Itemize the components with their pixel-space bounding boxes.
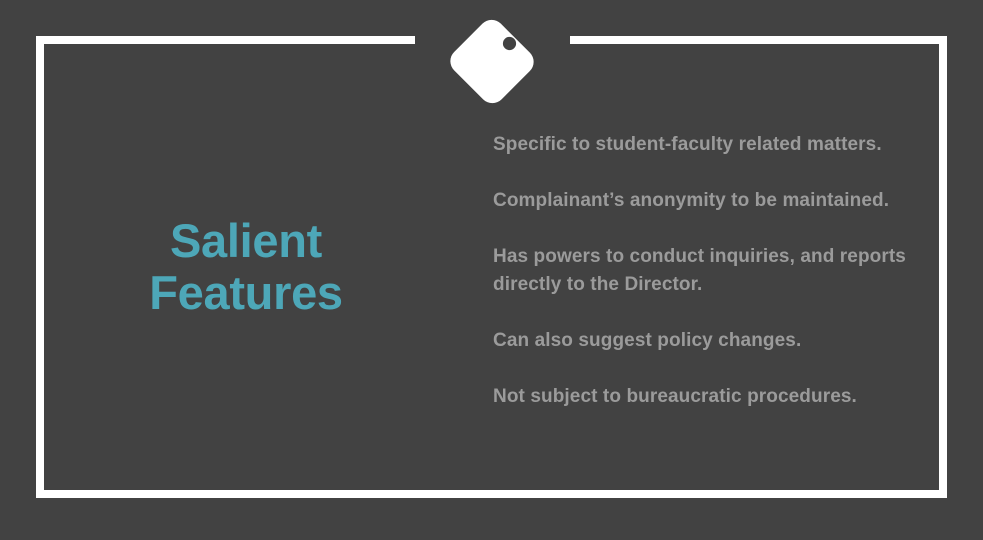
features-list: Specific to student-faculty related matt… bbox=[493, 131, 925, 411]
page-title-line-2: Features bbox=[36, 267, 456, 319]
list-item: Not subject to bureaucratic procedures. bbox=[493, 383, 925, 411]
page-title: Salient Features bbox=[36, 215, 456, 319]
list-item: Can also suggest policy changes. bbox=[493, 327, 925, 355]
page-title-line-1: Salient bbox=[36, 215, 456, 267]
frame-border-top-left bbox=[36, 36, 415, 44]
list-item: Complainant’s anonymity to be maintained… bbox=[493, 187, 925, 215]
frame-border-right bbox=[939, 36, 947, 498]
frame-border-top-right bbox=[570, 36, 947, 44]
list-item: Specific to student-faculty related matt… bbox=[493, 131, 925, 159]
frame-border-bottom bbox=[36, 490, 947, 498]
tag-icon bbox=[448, 17, 536, 106]
slide-canvas: Salient Features Specific to student-fac… bbox=[0, 0, 983, 540]
list-item: Has powers to conduct inquiries, and rep… bbox=[493, 243, 925, 299]
